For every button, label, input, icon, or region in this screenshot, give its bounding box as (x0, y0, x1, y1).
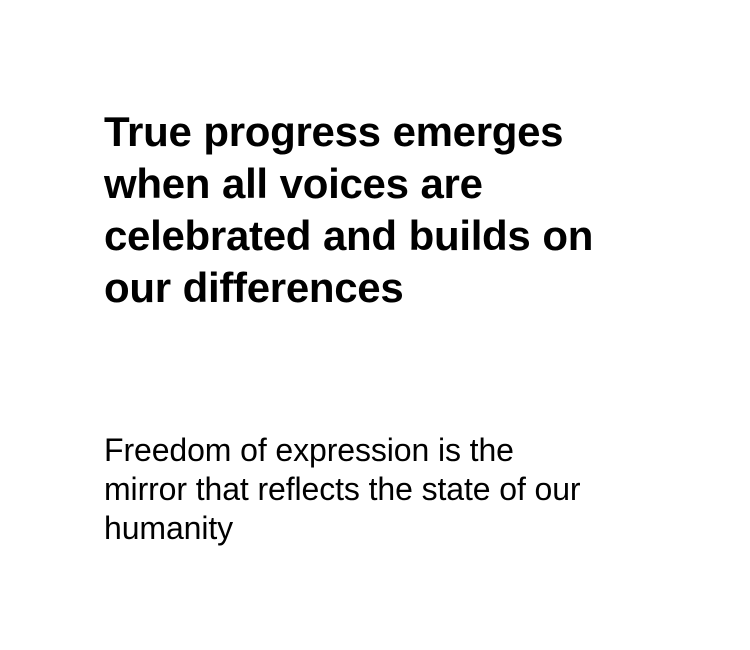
headline-line-2: when all voices are (104, 158, 644, 210)
slide-canvas: True progress emerges when all voices ar… (0, 0, 750, 650)
subheading-line-3: humanity (104, 509, 664, 548)
page-title: True progress emerges when all voices ar… (104, 106, 644, 314)
headline-line-3: celebrated and builds on (104, 210, 644, 262)
headline-line-4: our differences (104, 262, 644, 314)
subheading-line-2: mirror that reflects the state of our (104, 470, 664, 509)
page-subtitle: Freedom of expression is the mirror that… (104, 431, 664, 548)
headline-line-1: True progress emerges (104, 106, 644, 158)
subheading-line-1: Freedom of expression is the (104, 431, 664, 470)
subheading-block: Freedom of expression is the mirror that… (104, 431, 664, 548)
headline-block: True progress emerges when all voices ar… (104, 106, 644, 314)
